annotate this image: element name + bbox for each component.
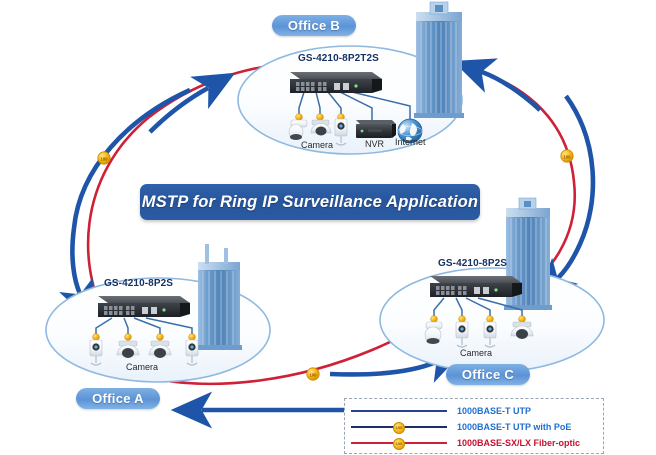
camera-caption-c: Camera: [460, 348, 492, 358]
legend-row-utp: 1000BASE-T UTP: [351, 403, 597, 419]
svg-text:100: 100: [564, 155, 572, 160]
svg-text:100: 100: [310, 373, 318, 378]
fiber-badge-left: 100: [98, 152, 110, 164]
legend-line-utp: [351, 410, 447, 412]
poe-badge-label: 100: [394, 425, 404, 431]
switch-model-label-a: GS-4210-8P2S: [104, 278, 173, 289]
legend-label-utp-poe: 1000BASE-T UTP with PoE: [457, 419, 571, 435]
switch-a: [98, 296, 190, 317]
diagram-graphics: 100 100 100: [0, 0, 656, 455]
fiber-badge-right: 100: [561, 150, 573, 162]
svg-text:100: 100: [101, 157, 109, 162]
legend-box: 1000BASE-T UTP 100 1000BASE-T UTP with P…: [344, 398, 604, 454]
site-label-office-b: Office B: [272, 15, 356, 36]
nvr-caption-b: NVR: [365, 139, 384, 149]
nvr-b: [356, 120, 396, 138]
fiber-badge-icon: 100: [393, 438, 405, 450]
ring-arrow-to-c-bottom: [330, 362, 436, 375]
switch-model-label-b: GS-4210-8P2T2S: [298, 53, 379, 64]
switch-b: [290, 72, 382, 93]
title-banner: MSTP for Ring IP Surveillance Applicatio…: [140, 184, 480, 220]
switch-model-label-c: GS-4210-8P2S: [438, 258, 507, 269]
legend-label-utp: 1000BASE-T UTP: [457, 403, 531, 419]
camera-caption-a: Camera: [126, 362, 158, 372]
building-a: [196, 244, 242, 350]
fiber-badge-bottom: 100: [307, 368, 319, 380]
internet-caption-b: Internet: [395, 137, 426, 147]
dome-camera-b: [311, 120, 331, 136]
site-label-office-a: Office A: [76, 388, 160, 409]
site-label-office-c: Office C: [446, 364, 530, 385]
title-banner-text: MSTP for Ring IP Surveillance Applicatio…: [142, 193, 478, 212]
switch-c: [430, 276, 522, 297]
legend-row-fiber: 100 1000BASE-SX/LX Fiber-optic: [351, 435, 597, 451]
legend-label-fiber: 1000BASE-SX/LX Fiber-optic: [457, 435, 580, 451]
camera-caption-b: Camera: [301, 140, 333, 150]
building-b: [414, 2, 464, 118]
ptz-camera-c: [425, 322, 442, 344]
fiber-badge-label: 100: [394, 441, 404, 447]
legend-row-utp-poe: 100 1000BASE-T UTP with PoE: [351, 419, 597, 435]
poe-badge-icon: 100: [393, 422, 405, 434]
ring-arrow-to-b-right: [482, 72, 540, 110]
diagram-canvas: 100 100 100 Office B Office A Office C G…: [0, 0, 656, 455]
